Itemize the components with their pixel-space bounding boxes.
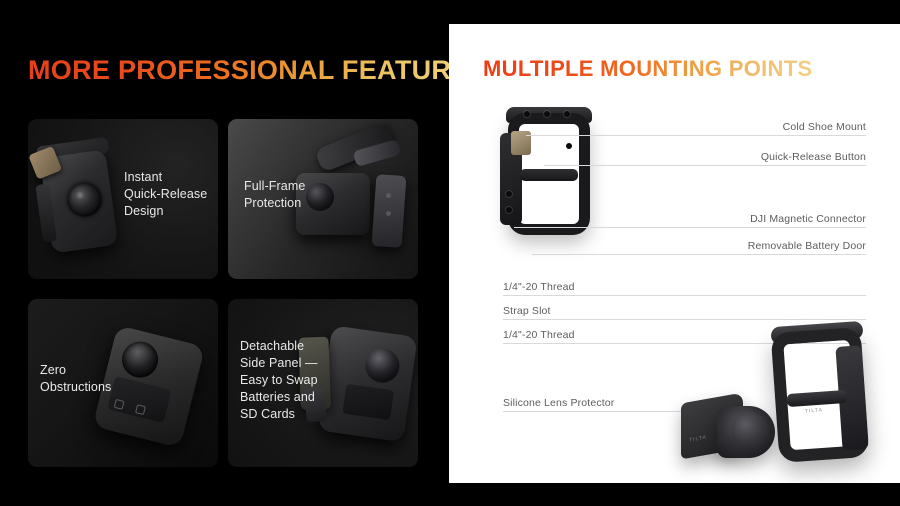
callout-label: Cold Shoe Mount bbox=[783, 121, 866, 133]
callout-removable-battery-door: Removable Battery Door bbox=[532, 229, 866, 255]
leader-line bbox=[544, 165, 866, 166]
silicone-lens-protector-image: TILTA bbox=[681, 392, 781, 472]
feature-card-instant-quick-release[interactable]: Instant Quick-Release Design bbox=[28, 119, 218, 279]
leader-line bbox=[503, 411, 708, 412]
callout-silicone-lens-protector: Silicone Lens Protector bbox=[503, 388, 708, 412]
leader-line bbox=[526, 135, 866, 136]
feature-card-label: Zero Obstructions bbox=[40, 362, 111, 396]
right-panel: MULTIPLE MOUNTING POINTS Cold Shoe Mount… bbox=[449, 24, 900, 483]
callout-label: 1/4"-20 Thread bbox=[503, 329, 575, 341]
callout-quarter-20-thread-upper: 1/4"-20 Thread bbox=[503, 272, 866, 296]
callout-label: Silicone Lens Protector bbox=[503, 397, 614, 409]
callout-strap-slot: Strap Slot bbox=[503, 296, 866, 320]
callout-label: DJI Magnetic Connector bbox=[750, 213, 866, 225]
callout-dji-magnetic-connector: DJI Magnetic Connector bbox=[514, 202, 866, 228]
leader-line bbox=[514, 227, 866, 228]
feature-card-zero-obstructions[interactable]: Zero Obstructions bbox=[28, 299, 218, 467]
feature-card-full-frame-protection[interactable]: Full-Frame Protection bbox=[228, 119, 418, 279]
feature-card-label: Detachable Side Panel — Easy to Swap Bat… bbox=[240, 338, 318, 423]
right-panel-title: MULTIPLE MOUNTING POINTS bbox=[483, 56, 812, 82]
callout-label: 1/4"-20 Thread bbox=[503, 281, 575, 293]
feature-card-detachable-side-panel[interactable]: Detachable Side Panel — Easy to Swap Bat… bbox=[228, 299, 418, 467]
callout-cold-shoe-mount: Cold Shoe Mount bbox=[526, 110, 866, 136]
feature-card-label: Full-Frame Protection bbox=[244, 178, 305, 212]
leader-line bbox=[532, 254, 866, 255]
feature-card-label: Instant Quick-Release Design bbox=[124, 169, 207, 220]
left-panel-title: MORE PROFESSIONAL FEATURES bbox=[28, 55, 488, 86]
brand-mark: TILTA bbox=[805, 407, 823, 414]
callout-label: Removable Battery Door bbox=[748, 240, 866, 252]
callout-label: Strap Slot bbox=[503, 305, 551, 317]
callout-quick-release-button: Quick-Release Button bbox=[544, 140, 866, 166]
left-panel: MORE PROFESSIONAL FEATURES Instant Quick… bbox=[0, 22, 449, 484]
callout-label: Quick-Release Button bbox=[761, 151, 866, 163]
camera-cage-rear-image: TILTA bbox=[767, 324, 877, 469]
slide-root: MORE PROFESSIONAL FEATURES Instant Quick… bbox=[0, 0, 900, 506]
